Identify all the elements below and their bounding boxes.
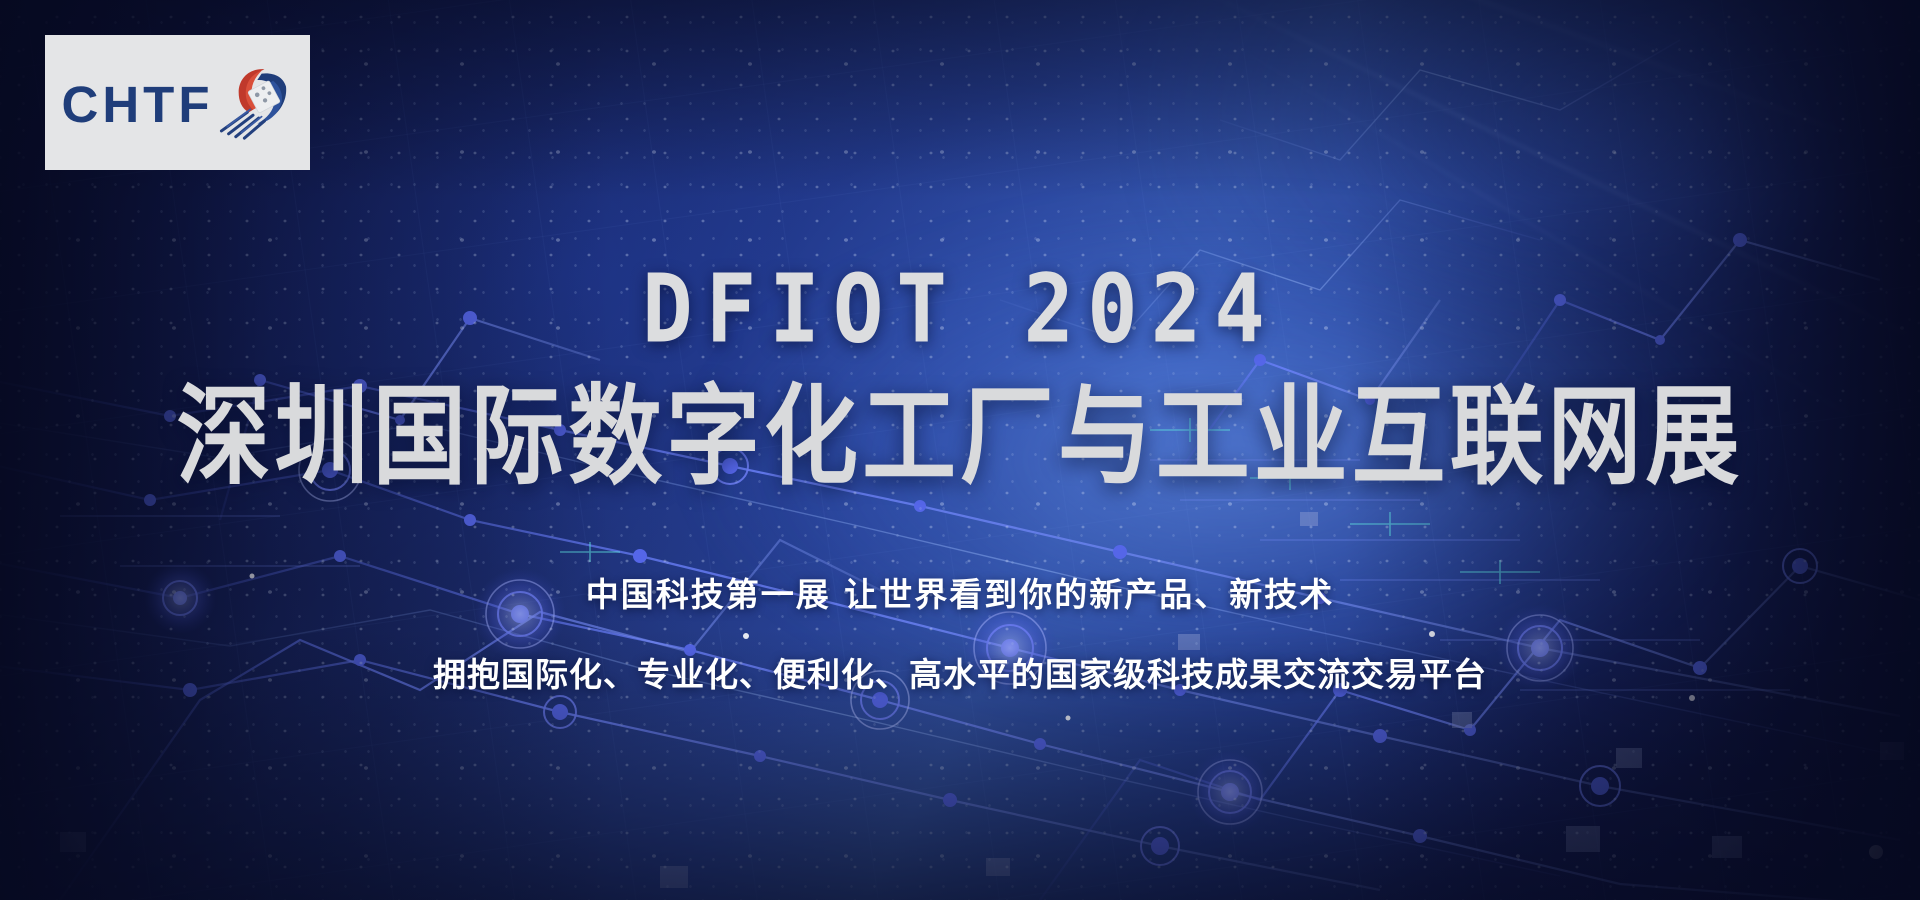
tagline-primary: 中国科技第一展 让世界看到你的新产品、新技术	[586, 568, 1335, 616]
tagline-secondary: 拥抱国际化、专业化、便利化、高水平的国家级科技成果交流交易平台	[433, 648, 1487, 696]
event-banner: CHTF	[0, 0, 1920, 900]
chtf-swoosh-emblem-icon	[217, 65, 289, 141]
event-title-english: DFIOT 2024	[642, 262, 1278, 356]
chtf-wordmark: CHTF	[62, 75, 214, 130]
chtf-logo[interactable]: CHTF	[45, 35, 310, 170]
event-title-chinese: 深圳国际数字化工厂与工业互联网展	[177, 382, 1744, 493]
